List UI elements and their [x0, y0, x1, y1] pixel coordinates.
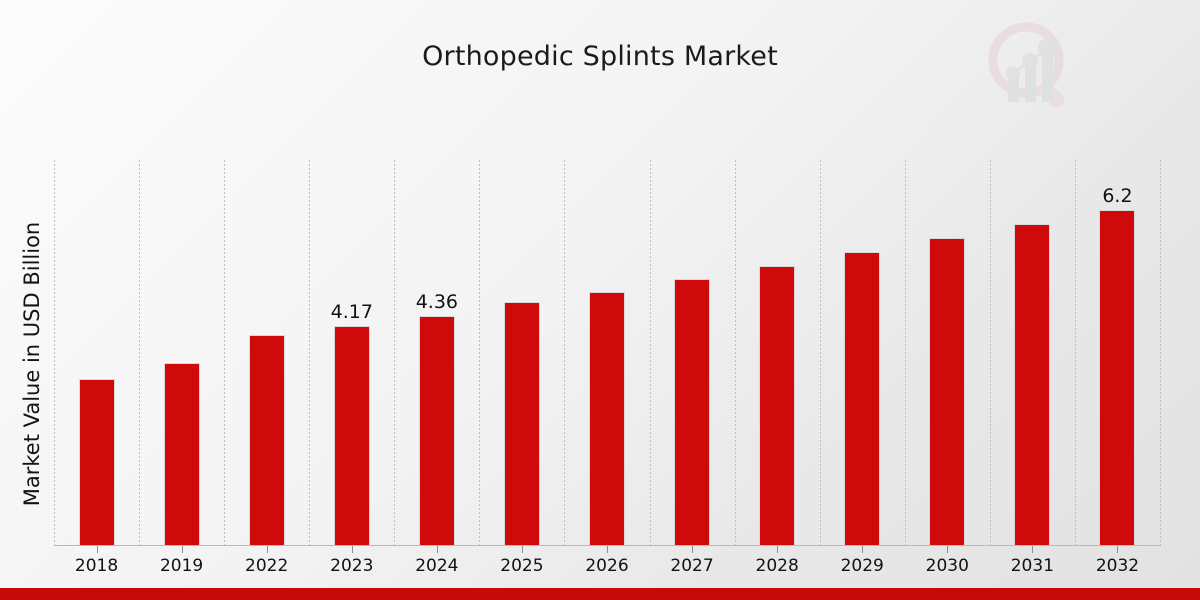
gridline [650, 160, 651, 546]
x-tick-label-2022: 2022 [245, 556, 288, 576]
bar-2018[interactable] [79, 379, 115, 545]
gridline [1160, 160, 1161, 546]
bar-2024[interactable] [419, 316, 455, 545]
x-tick-2030 [947, 546, 948, 553]
magnifier-bar-chart-logo [982, 18, 1080, 112]
bar-value-label-2024: 4.36 [416, 291, 458, 313]
bar-2031[interactable] [1014, 224, 1050, 545]
x-tick-2029 [862, 546, 863, 553]
gridline [1075, 160, 1076, 546]
x-tick-label-2028: 2028 [756, 556, 799, 576]
bar-2030[interactable] [929, 238, 965, 545]
chart-figure: Orthopedic Splints Market Market Value i… [0, 0, 1200, 600]
bar-2028[interactable] [759, 266, 795, 545]
x-tick-label-2024: 2024 [415, 556, 458, 576]
x-tick-2031 [1032, 546, 1033, 553]
bar-2022[interactable] [249, 335, 285, 545]
x-tick-label-2026: 2026 [585, 556, 628, 576]
x-tick-label-2019: 2019 [160, 556, 203, 576]
x-tick-2025 [522, 546, 523, 553]
x-tick-label-2031: 2031 [1011, 556, 1054, 576]
x-tick-label-2027: 2027 [670, 556, 713, 576]
gridline [735, 160, 736, 546]
gridline [54, 160, 55, 546]
bar-2023[interactable] [334, 326, 370, 545]
y-axis-title: Market Value in USD Billion [20, 164, 44, 564]
x-tick-label-2018: 2018 [75, 556, 118, 576]
bar-value-label-2032: 6.2 [1102, 185, 1132, 207]
gridline [820, 160, 821, 546]
x-tick-2022 [267, 546, 268, 553]
x-tick-label-2030: 2030 [926, 556, 969, 576]
bar-2027[interactable] [674, 279, 710, 545]
x-tick-2023 [352, 546, 353, 553]
x-tick-label-2029: 2029 [841, 556, 884, 576]
x-tick-label-2025: 2025 [500, 556, 543, 576]
x-tick-label-2023: 2023 [330, 556, 373, 576]
bar-2029[interactable] [844, 252, 880, 545]
x-tick-label-2032: 2032 [1096, 556, 1139, 576]
gridline [224, 160, 225, 546]
gridline [139, 160, 140, 546]
gridline [479, 160, 480, 546]
x-tick-2024 [437, 546, 438, 553]
x-tick-2019 [182, 546, 183, 553]
gridline [564, 160, 565, 546]
gridline [394, 160, 395, 546]
x-tick-2026 [607, 546, 608, 553]
bar-2032[interactable] [1099, 210, 1135, 545]
gridline [905, 160, 906, 546]
footer-accent-bar [0, 588, 1200, 600]
plot-area: 4.174.366.2 2018201920222023202420252026… [54, 160, 1160, 546]
bar-2026[interactable] [589, 292, 625, 545]
bar-value-label-2023: 4.17 [331, 301, 373, 323]
bar-2025[interactable] [504, 302, 540, 545]
gridline [309, 160, 310, 546]
x-tick-2027 [692, 546, 693, 553]
x-tick-2032 [1117, 546, 1118, 553]
x-tick-2018 [97, 546, 98, 553]
bar-2019[interactable] [164, 363, 200, 545]
x-tick-2028 [777, 546, 778, 553]
gridline [990, 160, 991, 546]
